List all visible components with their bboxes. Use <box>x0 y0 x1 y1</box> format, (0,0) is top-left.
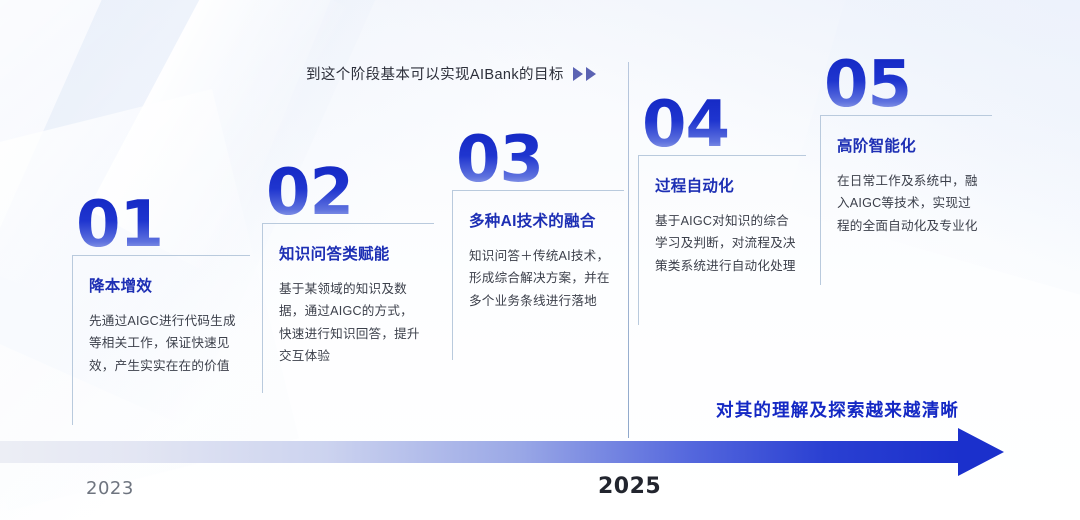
step-number: 02 <box>266 164 434 223</box>
annotation-callout: 到这个阶段基本可以实现AIBank的目标 <box>306 63 596 85</box>
step-card: 降本增效 先通过AIGC进行代码生成等相关工作，保证快速见效，产生实实在在的价值 <box>72 255 250 425</box>
step-number: 01 <box>76 196 250 255</box>
step-card: 多种AI技术的融合 知识问答＋传统AI技术，形成综合解决方案，并在多个业务条线进… <box>452 190 624 360</box>
step-number: 03 <box>456 131 624 190</box>
step-title: 高阶智能化 <box>837 134 982 156</box>
year-label-2023: 2023 <box>86 478 134 499</box>
step-title: 多种AI技术的融合 <box>469 209 614 231</box>
step-title: 知识问答类赋能 <box>279 242 424 264</box>
step-description: 先通过AIGC进行代码生成等相关工作，保证快速见效，产生实实在在的价值 <box>89 310 240 377</box>
step-description: 基于AIGC对知识的综合学习及判断，对流程及决策类系统进行自动化处理 <box>655 210 796 277</box>
step-description: 基于某领域的知识及数据，通过AIGC的方式，快速进行知识回答，提升交互体验 <box>279 278 424 368</box>
annotation-text: 到这个阶段基本可以实现AIBank的目标 <box>306 63 564 85</box>
timeline-step-03: 03 多种AI技术的融合 知识问答＋传统AI技术，形成综合解决方案，并在多个业务… <box>452 131 624 360</box>
year-label-2025: 2025 <box>598 474 661 499</box>
timeline-arrow-head-icon <box>958 428 1004 476</box>
double-chevron-right-icon <box>573 67 596 81</box>
year-divider-2025 <box>628 62 629 438</box>
step-card: 高阶智能化 在日常工作及系统中，融入AIGC等技术，实现过程的全面自动化及专业化 <box>820 115 992 285</box>
step-title: 过程自动化 <box>655 174 796 196</box>
step-description: 知识问答＋传统AI技术，形成综合解决方案，并在多个业务条线进行落地 <box>469 245 614 312</box>
timeline-step-05: 05 高阶智能化 在日常工作及系统中，融入AIGC等技术，实现过程的全面自动化及… <box>820 56 992 285</box>
timeline-bar <box>0 441 960 463</box>
timeline-step-04: 04 过程自动化 基于AIGC对知识的综合学习及判断，对流程及决策类系统进行自动… <box>638 96 806 325</box>
step-card: 过程自动化 基于AIGC对知识的综合学习及判断，对流程及决策类系统进行自动化处理 <box>638 155 806 325</box>
step-card: 知识问答类赋能 基于某领域的知识及数据，通过AIGC的方式，快速进行知识回答，提… <box>262 223 434 393</box>
step-number: 04 <box>642 96 806 155</box>
timeline-step-01: 01 降本增效 先通过AIGC进行代码生成等相关工作，保证快速见效，产生实实在在… <box>72 196 250 425</box>
step-number: 05 <box>824 56 992 115</box>
step-description: 在日常工作及系统中，融入AIGC等技术，实现过程的全面自动化及专业化 <box>837 170 982 237</box>
timeline-step-02: 02 知识问答类赋能 基于某领域的知识及数据，通过AIGC的方式，快速进行知识回… <box>262 164 434 393</box>
slide-canvas: 到这个阶段基本可以实现AIBank的目标 01 降本增效 先通过AIGC进行代码… <box>0 0 1080 520</box>
step-title: 降本增效 <box>89 274 240 296</box>
timeline-arrow-label: 对其的理解及探索越来越清晰 <box>716 397 959 422</box>
